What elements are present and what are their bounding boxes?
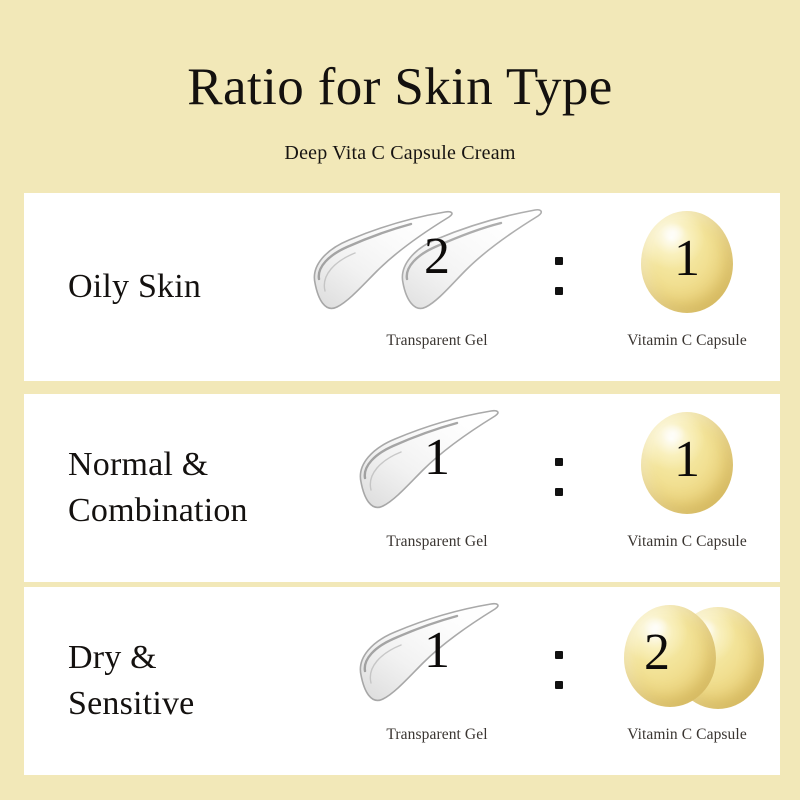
colon-dot-bottom: [555, 681, 563, 689]
ratio-row-normal-combination: Normal & Combination: [24, 394, 780, 582]
capsule-column: 1 Vitamin C Capsule: [572, 193, 800, 381]
gel-count: 2: [289, 231, 585, 283]
gel-column: 1 Transparent Gel: [289, 394, 585, 582]
ratio-separator: [546, 587, 572, 775]
capsule-count: 1: [572, 434, 800, 486]
ratio-row-dry-sensitive: Dry & Sensitive: [24, 587, 780, 775]
ratio-row-oily-skin: Oily Skin: [24, 193, 780, 381]
capsule-caption: Vitamin C Capsule: [572, 725, 800, 745]
capsule-stage: 1: [572, 207, 800, 325]
capsule-count: 2: [542, 627, 772, 679]
gel-caption: Transparent Gel: [289, 331, 585, 351]
gel-caption: Transparent Gel: [289, 532, 585, 552]
gel-stage: 1: [289, 408, 585, 526]
capsule-column: 1 Vitamin C Capsule: [572, 394, 800, 582]
gel-stage: 1: [289, 601, 585, 719]
gel-stage: 2: [289, 207, 585, 325]
infographic-page: Ratio for Skin Type Deep Vita C Capsule …: [0, 0, 800, 800]
capsule-column: 2 Vitamin C Capsule: [572, 587, 800, 775]
colon-dot-bottom: [555, 488, 563, 496]
ratio-separator: [546, 394, 572, 582]
capsule-caption: Vitamin C Capsule: [572, 331, 800, 351]
gel-count: 1: [289, 625, 585, 677]
gel-column: 2 Transparent Gel: [289, 193, 585, 381]
capsule-stage: 1: [572, 408, 800, 526]
page-subtitle: Deep Vita C Capsule Cream: [0, 140, 800, 166]
ratio-separator: [546, 193, 572, 381]
capsule-stage: 2: [572, 601, 800, 719]
header: Ratio for Skin Type Deep Vita C Capsule …: [0, 0, 800, 193]
gel-count: 1: [289, 432, 585, 484]
gel-column: 1 Transparent Gel: [289, 587, 585, 775]
page-title: Ratio for Skin Type: [0, 56, 800, 118]
capsule-caption: Vitamin C Capsule: [572, 532, 800, 552]
colon-dot-bottom: [555, 287, 563, 295]
capsule-count: 1: [572, 233, 800, 285]
gel-caption: Transparent Gel: [289, 725, 585, 745]
